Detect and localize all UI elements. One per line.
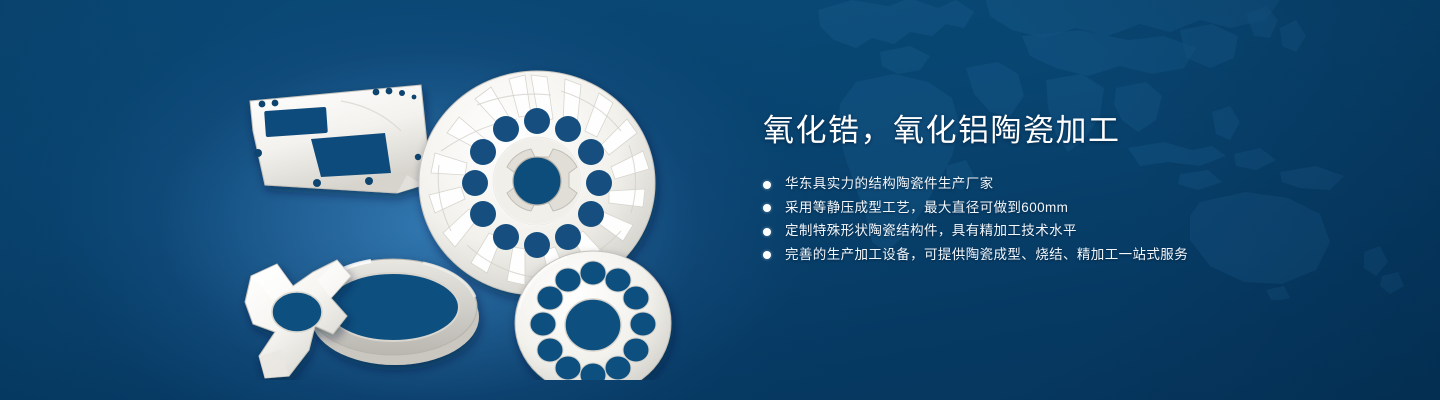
list-item: 完善的生产加工设备，可提供陶瓷成型、烧结、精加工一站式服务 xyxy=(763,243,1383,267)
banner-copy: 氧化锆，氧化铝陶瓷加工 华东具实力的结构陶瓷件生产厂家 采用等静压成型工艺，最大… xyxy=(763,112,1383,266)
bullet-dot-icon xyxy=(763,251,771,259)
list-item: 采用等静压成型工艺，最大直径可做到600mm xyxy=(763,196,1383,220)
list-item: 定制特殊形状陶瓷结构件，具有精加工技术水平 xyxy=(763,219,1383,243)
ceramic-cross-piece xyxy=(245,260,351,378)
ceramic-products-image xyxy=(225,35,695,380)
feature-list: 华东具实力的结构陶瓷件生产厂家 采用等静压成型工艺，最大直径可做到600mm 定… xyxy=(763,172,1383,266)
list-item-label: 定制特殊形状陶瓷结构件，具有精加工技术水平 xyxy=(785,219,1077,243)
bullet-dot-icon xyxy=(763,181,771,189)
ceramic-mounting-plate xyxy=(250,85,429,193)
list-item-label: 完善的生产加工设备，可提供陶瓷成型、烧结、精加工一站式服务 xyxy=(785,243,1188,267)
list-item-label: 采用等静压成型工艺，最大直径可做到600mm xyxy=(785,196,1068,220)
hero-banner: 氧化锆，氧化铝陶瓷加工 华东具实力的结构陶瓷件生产厂家 采用等静压成型工艺，最大… xyxy=(0,0,1440,400)
bullet-dot-icon xyxy=(763,204,771,212)
list-item-label: 华东具实力的结构陶瓷件生产厂家 xyxy=(785,172,994,196)
bullet-dot-icon xyxy=(763,228,771,236)
page-title: 氧化锆，氧化铝陶瓷加工 xyxy=(763,112,1383,150)
list-item: 华东具实力的结构陶瓷件生产厂家 xyxy=(763,172,1383,196)
